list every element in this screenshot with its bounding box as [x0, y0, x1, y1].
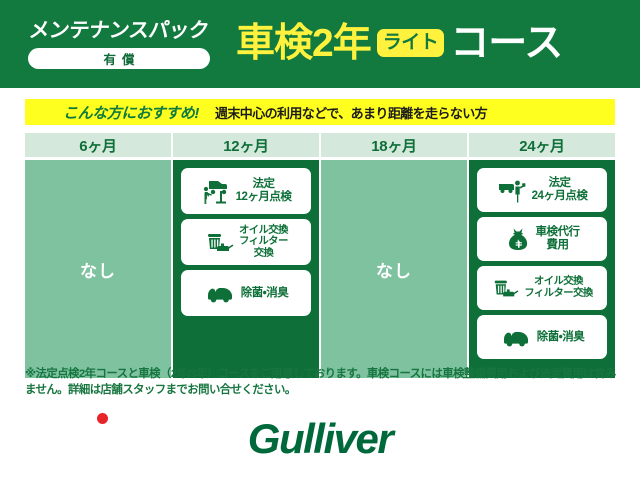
- oil-filter-change-icon: [204, 228, 234, 256]
- service-card-oil-filter-24m[interactable]: オイル交換 フィルター交換: [477, 266, 607, 310]
- maintenance-pack-banner: メンテナンスパック 有償 車検2年 ライト コース こんな方におすすめ! 週末中…: [0, 0, 640, 480]
- recommendation-bar: こんな方におすすめ! 週末中心の利用などで、あまり距離を走らない方: [25, 99, 615, 125]
- service-label-legal-24m-inspection: 法定 24ヶ月点検: [532, 177, 588, 203]
- shaken-2year-label: 車検2年: [236, 24, 371, 63]
- service-schedule-table: 6ヶ月 なし 12ヶ月: [25, 133, 615, 378]
- column-header-12months: 12ヶ月: [173, 133, 319, 157]
- car-sparkle-icon: [204, 282, 236, 304]
- column-header-18months: 18ヶ月: [321, 133, 467, 157]
- car-inspector-icon: [497, 177, 527, 203]
- column-24months: 24ヶ月: [469, 133, 615, 378]
- service-label-sanitize-12m: 除菌・消臭: [241, 287, 288, 300]
- none-label-18months: なし: [376, 257, 412, 282]
- header-left-group: メンテナンスパック 有償: [8, 19, 230, 70]
- gulliver-logo-text: Gulliver: [248, 415, 392, 463]
- column-body-18months: なし: [321, 160, 467, 378]
- column-body-6months: なし: [25, 160, 171, 378]
- light-course-badge: ライト: [377, 29, 445, 57]
- service-label-oil-filter-24m: オイル交換 フィルター交換: [524, 276, 592, 299]
- money-bag-yen-icon: [505, 226, 531, 252]
- course-label: コース: [450, 24, 562, 63]
- service-label-oil-filter-12m: オイル交換 フィルター 交換: [239, 225, 288, 260]
- service-label-legal-12m-inspection: 法定 12ヶ月点検: [236, 178, 292, 204]
- recommendation-description: 週末中心の利用などで、あまり距離を走らない方: [215, 103, 487, 122]
- paid-badge: 有償: [28, 48, 210, 69]
- service-card-oil-filter-12m[interactable]: オイル交換 フィルター 交換: [181, 219, 311, 265]
- none-label-6months: なし: [80, 257, 116, 282]
- column-body-12months: 法定 12ヶ月点検: [173, 160, 319, 378]
- column-6months: 6ヶ月 なし: [25, 133, 171, 378]
- brand-logo: Gulliver: [0, 410, 640, 468]
- oil-filter-change-icon: [491, 275, 519, 301]
- service-card-legal-12m-inspection[interactable]: 法定 12ヶ月点検: [181, 168, 311, 214]
- column-header-6months: 6ヶ月: [25, 133, 171, 157]
- service-label-sanitize-24m: 除菌・消臭: [537, 331, 584, 344]
- recommendation-headline: こんな方におすすめ!: [63, 102, 199, 123]
- header-banner: メンテナンスパック 有償 車検2年 ライト コース: [0, 0, 640, 88]
- service-card-sanitize-12m[interactable]: 除菌・消臭: [181, 270, 311, 316]
- service-label-inspection-agency-fee: 車検代行 費用: [536, 226, 580, 252]
- maintenance-pack-title: メンテナンスパック: [28, 21, 210, 42]
- column-header-24months: 24ヶ月: [469, 133, 615, 157]
- logo-red-dot-icon: [97, 413, 108, 424]
- footnote-text: ※法定点検2年コースと車検（2年/3年）コースをご用意しております。車検コースに…: [25, 366, 619, 398]
- service-card-legal-24m-inspection[interactable]: 法定 24ヶ月点検: [477, 168, 607, 212]
- column-12months: 12ヶ月: [173, 133, 319, 378]
- service-card-inspection-agency-fee[interactable]: 車検代行 費用: [477, 217, 607, 261]
- service-card-sanitize-24m[interactable]: 除菌・消臭: [477, 315, 607, 359]
- column-18months: 18ヶ月 なし: [321, 133, 467, 378]
- car-sparkle-icon: [500, 326, 532, 348]
- column-body-24months: 法定 24ヶ月点検 車検代行 費用: [469, 160, 615, 378]
- header-right-group: 車検2年 ライト コース: [230, 24, 632, 65]
- car-lift-inspection-icon: [201, 177, 231, 205]
